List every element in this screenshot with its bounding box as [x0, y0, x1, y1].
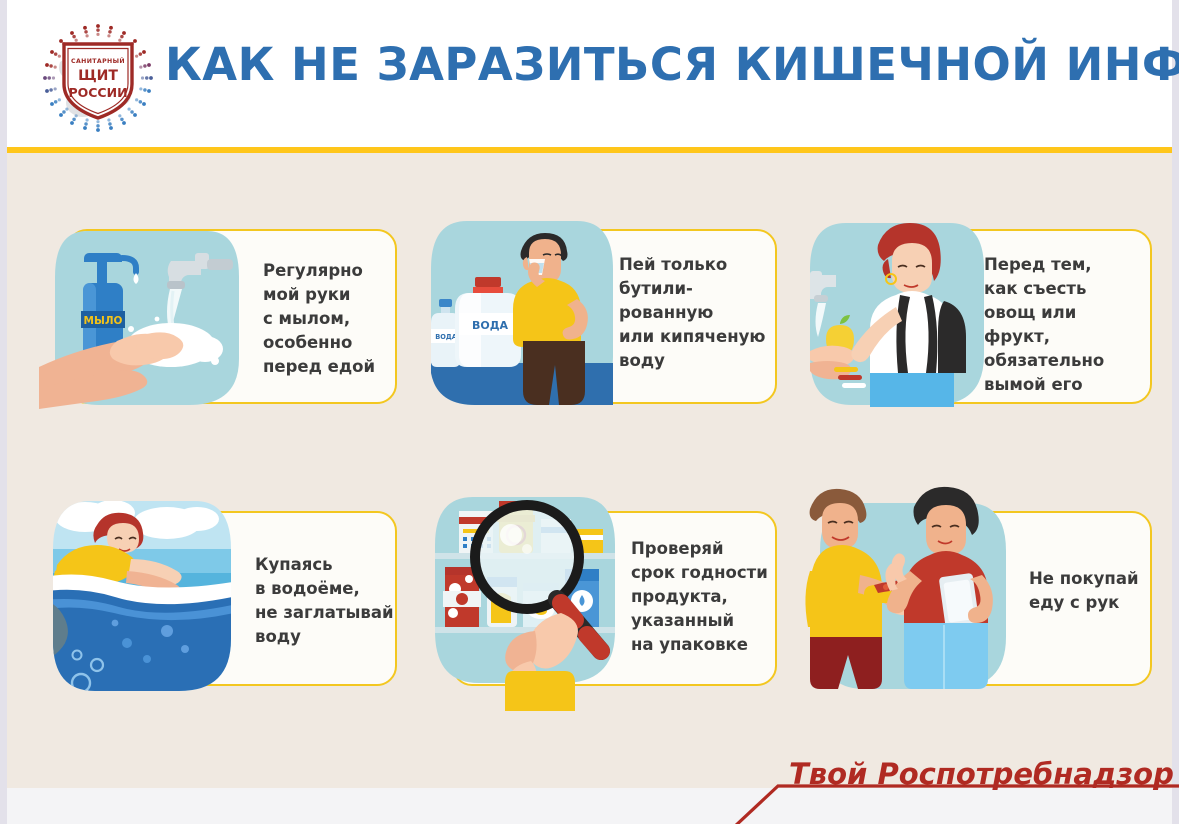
illustration-man-offering-hotdog-woman-refusing	[792, 471, 1032, 711]
page-right-edge	[1172, 0, 1179, 824]
page-left-edge	[0, 0, 7, 824]
illustration-hands-washing-with-soap-and-faucet: МЫЛО	[39, 217, 249, 417]
small-bottle-label: ВОДА	[435, 333, 458, 341]
infographic-poster: САНИТАРНЫЙ ЩИТ РОССИИ КАК НЕ ЗАРАЗИТЬСЯ …	[0, 0, 1179, 824]
tip-card-check-expiry-date-text: Проверяй срок годности продукта, указанн…	[631, 537, 776, 657]
illustration-boy-drinking-water-with-bottles: ВОДА ВОДА	[417, 213, 627, 421]
soap-bottle-label: МЫЛО	[84, 315, 123, 327]
logo-line-3: РОССИИ	[68, 85, 127, 100]
footer-brand: Твой Роспотребнадзор	[789, 757, 1174, 791]
illustration-hand-with-magnifier-over-shop-shelf	[415, 471, 637, 711]
logo-line-1: САНИТАРНЫЙ	[71, 56, 125, 65]
tip-card-wash-fruits-vegetables-text: Перед тем, как съесть овощ или фрукт, об…	[984, 253, 1144, 397]
big-bottle-label: ВОДА	[472, 319, 509, 332]
illustration-girl-washing-apple-under-tap	[792, 215, 1002, 421]
tip-card-do-not-buy-street-food-text: Не покупай еду с рук	[1029, 567, 1159, 615]
tip-card-wash-hands-text: Регулярно мой руки с мылом, особенно пер…	[263, 259, 393, 379]
tip-card-do-not-swallow-water-text: Купаясь в водоёме, не заглатывай воду	[255, 553, 395, 649]
page-title: КАК НЕ ЗАРАЗИТЬСЯ КИШЕЧНОЙ ИНФЕКЦИЕЙ	[165, 42, 1179, 87]
poster-header: САНИТАРНЫЙ ЩИТ РОССИИ КАК НЕ ЗАРАЗИТЬСЯ …	[7, 0, 1172, 148]
tip-card-drink-bottled-water-text: Пей только бутили- рованную или кипячену…	[619, 253, 769, 373]
sanitary-shield-of-russia-logo: САНИТАРНЫЙ ЩИТ РОССИИ	[40, 22, 156, 134]
tips-board: Регулярно мой руки с мылом, особенно пер…	[7, 153, 1172, 788]
illustration-woman-swimming-in-open-water	[35, 493, 250, 708]
logo-line-2: ЩИТ	[78, 68, 118, 84]
